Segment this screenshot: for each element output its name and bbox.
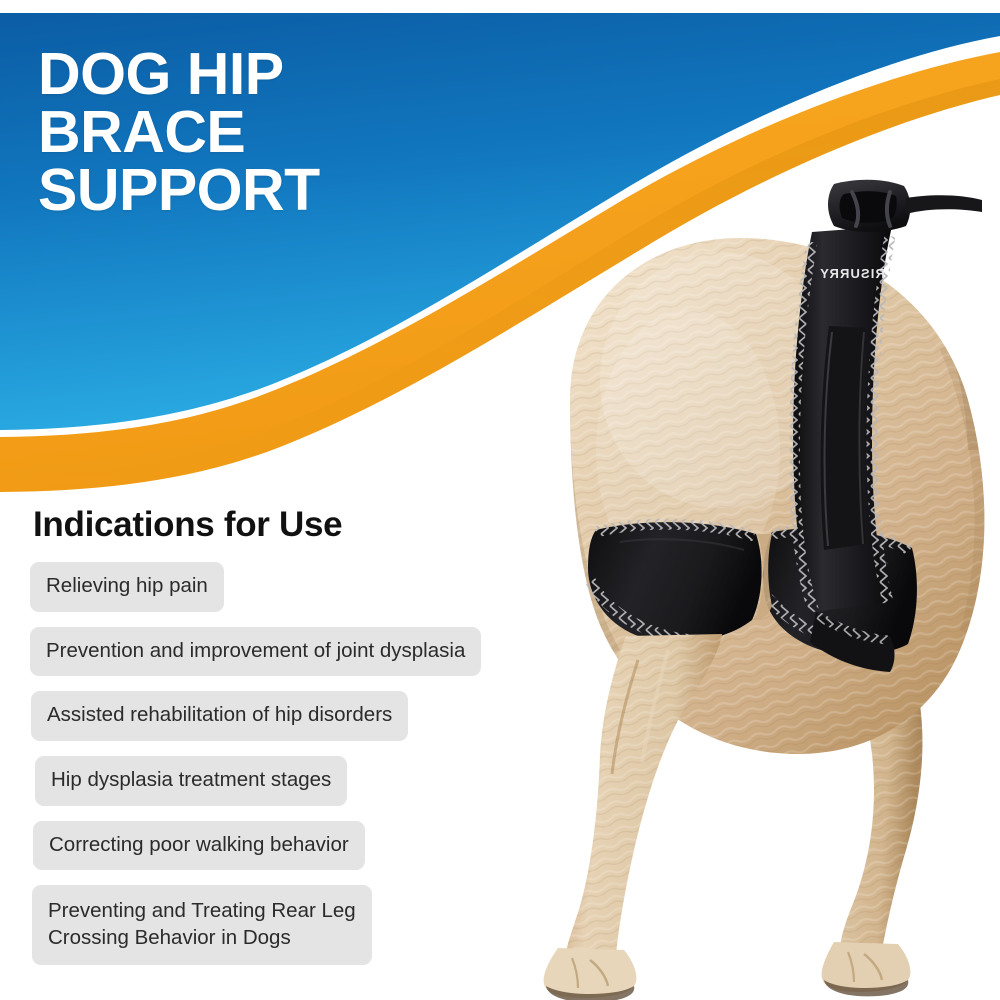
- dog-hindquarters: [520, 210, 1000, 790]
- indications-list: Relieving hip pain Prevention and improv…: [0, 562, 520, 980]
- product-marketing-image: DOG HIP BRACE SUPPORT: [0, 0, 1000, 1000]
- list-item: Hip dysplasia treatment stages: [35, 756, 347, 806]
- dog-paw-near: [544, 948, 637, 1000]
- headline-line-2: BRACE: [38, 104, 458, 162]
- headline-line-3: SUPPORT: [38, 162, 458, 220]
- list-item: Correcting poor walking behavior: [33, 821, 365, 871]
- page-title: DOG HIP BRACE SUPPORT: [38, 46, 458, 219]
- brace-buckle: [828, 180, 982, 232]
- indications-heading: Indications for Use: [33, 505, 342, 545]
- list-item: Relieving hip pain: [30, 562, 224, 612]
- list-item: Preventing and Treating Rear Leg Crossin…: [32, 885, 372, 965]
- dog-paw-far: [822, 942, 911, 996]
- brace-spine-strap: RISURRY: [793, 226, 892, 612]
- list-item: Prevention and improvement of joint dysp…: [30, 627, 481, 677]
- brand-label: RISURRY: [819, 266, 885, 281]
- list-item: Assisted rehabilitation of hip disorders: [31, 691, 408, 741]
- headline-line-1: DOG HIP: [38, 46, 458, 104]
- dog-rear-leg-near: [566, 634, 722, 956]
